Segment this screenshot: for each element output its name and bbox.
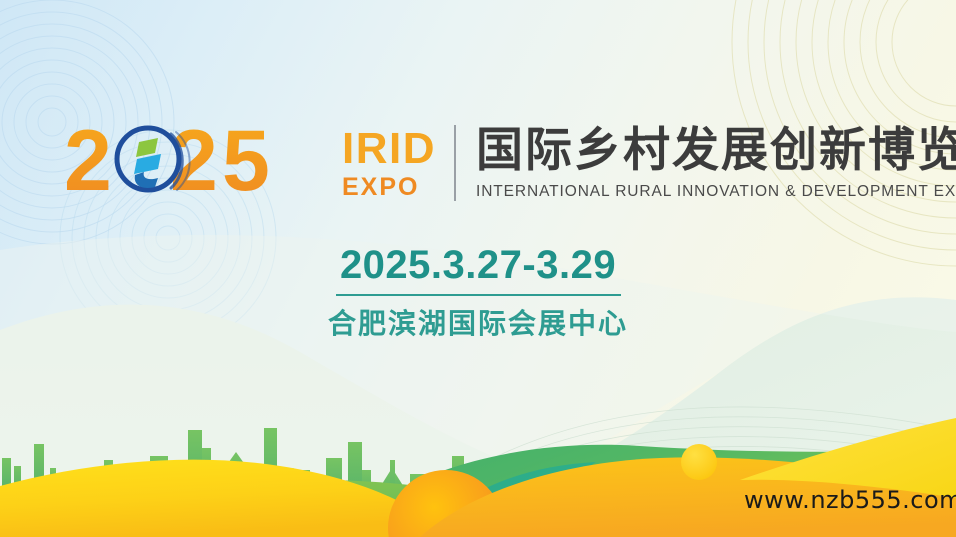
title-chinese: 国际乡村发展创新博览会: [476, 125, 956, 174]
date-rule: [336, 294, 621, 296]
logo-and-title-block: 2 2 5 IRID EXPO 国际乡村发展创新博: [66, 120, 956, 206]
title-group: 国际乡村发展创新博览会 INTERNATIONAL RURAL INNOVATI…: [476, 125, 956, 201]
irid-acronym: IRID: [342, 127, 436, 171]
title-divider: [454, 125, 456, 201]
expo-word: EXPO: [342, 175, 436, 200]
year-logo: 2 2 5: [66, 120, 338, 206]
event-venue: 合肥滨湖国际会展中心: [328, 302, 628, 342]
title-english: INTERNATIONAL RURAL INNOVATION & DEVELOP…: [476, 183, 956, 201]
site-watermark: www.nzb555.com: [744, 486, 956, 514]
svg-text:2: 2: [66, 120, 112, 206]
event-date: 2025.3.27-3.29: [340, 243, 616, 287]
irid-expo-wordmark: IRID EXPO: [342, 127, 436, 200]
event-banner: 2 2 5 IRID EXPO 国际乡村发展创新博: [0, 0, 956, 537]
event-date-block: 2025.3.27-3.29 合肥滨湖国际会展中心: [0, 243, 956, 342]
svg-text:5: 5: [222, 120, 270, 206]
